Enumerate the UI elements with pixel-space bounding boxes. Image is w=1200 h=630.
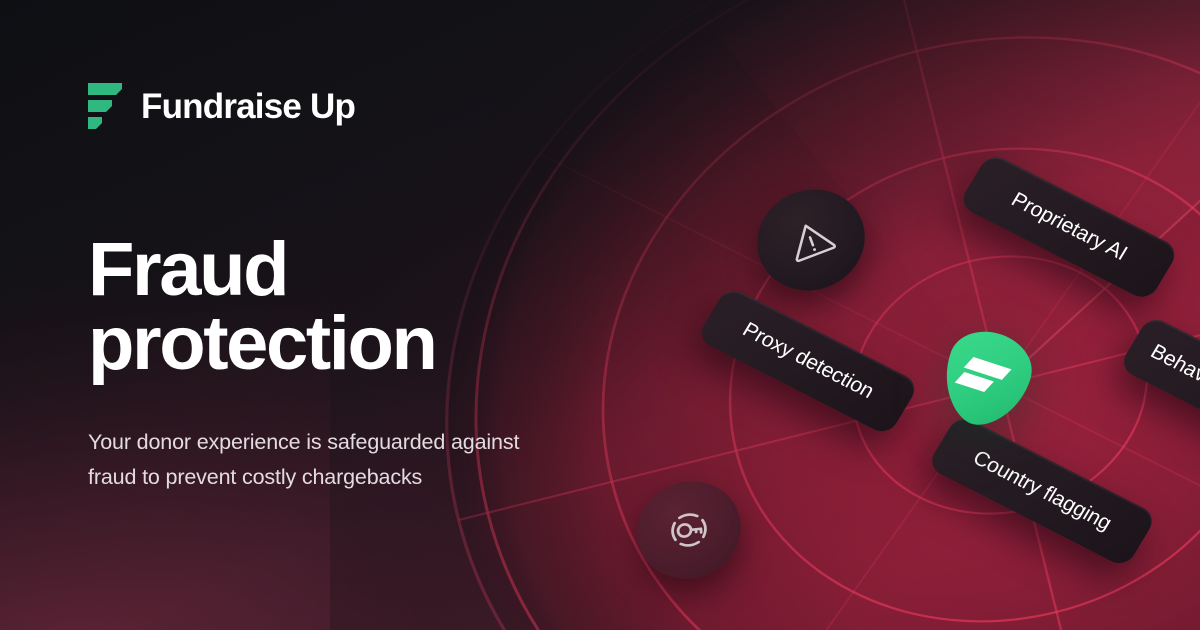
pill-label: Behavioral analysis — [1146, 340, 1200, 442]
hero-banner: Proxy detection Proprietary AI Country f… — [0, 0, 1200, 630]
pill-country-flagging: Country flagging — [926, 414, 1158, 569]
pill-label: Proxy detection — [738, 318, 878, 404]
shield-f-mark-icon — [930, 326, 1042, 434]
headline-line-1: Fraud — [88, 227, 287, 312]
warning-triangle-icon — [780, 209, 843, 271]
brand-name: Fundraise Up — [141, 89, 355, 124]
page-title: Fraud protection — [88, 233, 558, 382]
pill-label: Proprietary AI — [1007, 188, 1132, 266]
pill-behavioral-analysis: Behavioral analysis — [1118, 314, 1200, 467]
headline-line-2: protection — [88, 301, 436, 386]
pill-proprietary-ai: Proprietary AI — [958, 152, 1181, 302]
page-subtitle: Your donor experience is safeguarded aga… — [88, 425, 540, 496]
badge-warning — [755, 184, 868, 296]
hero-content: Fundraise Up Fraud protection Your donor… — [88, 0, 608, 630]
badge-face-scan — [635, 476, 743, 584]
fundraise-up-f-mark-icon — [88, 83, 124, 129]
pill-label: Country flagging — [968, 446, 1115, 535]
brand-logo[interactable]: Fundraise Up — [88, 83, 355, 129]
pill-proxy-detection: Proxy detection — [696, 285, 920, 436]
face-scan-icon — [659, 500, 720, 560]
